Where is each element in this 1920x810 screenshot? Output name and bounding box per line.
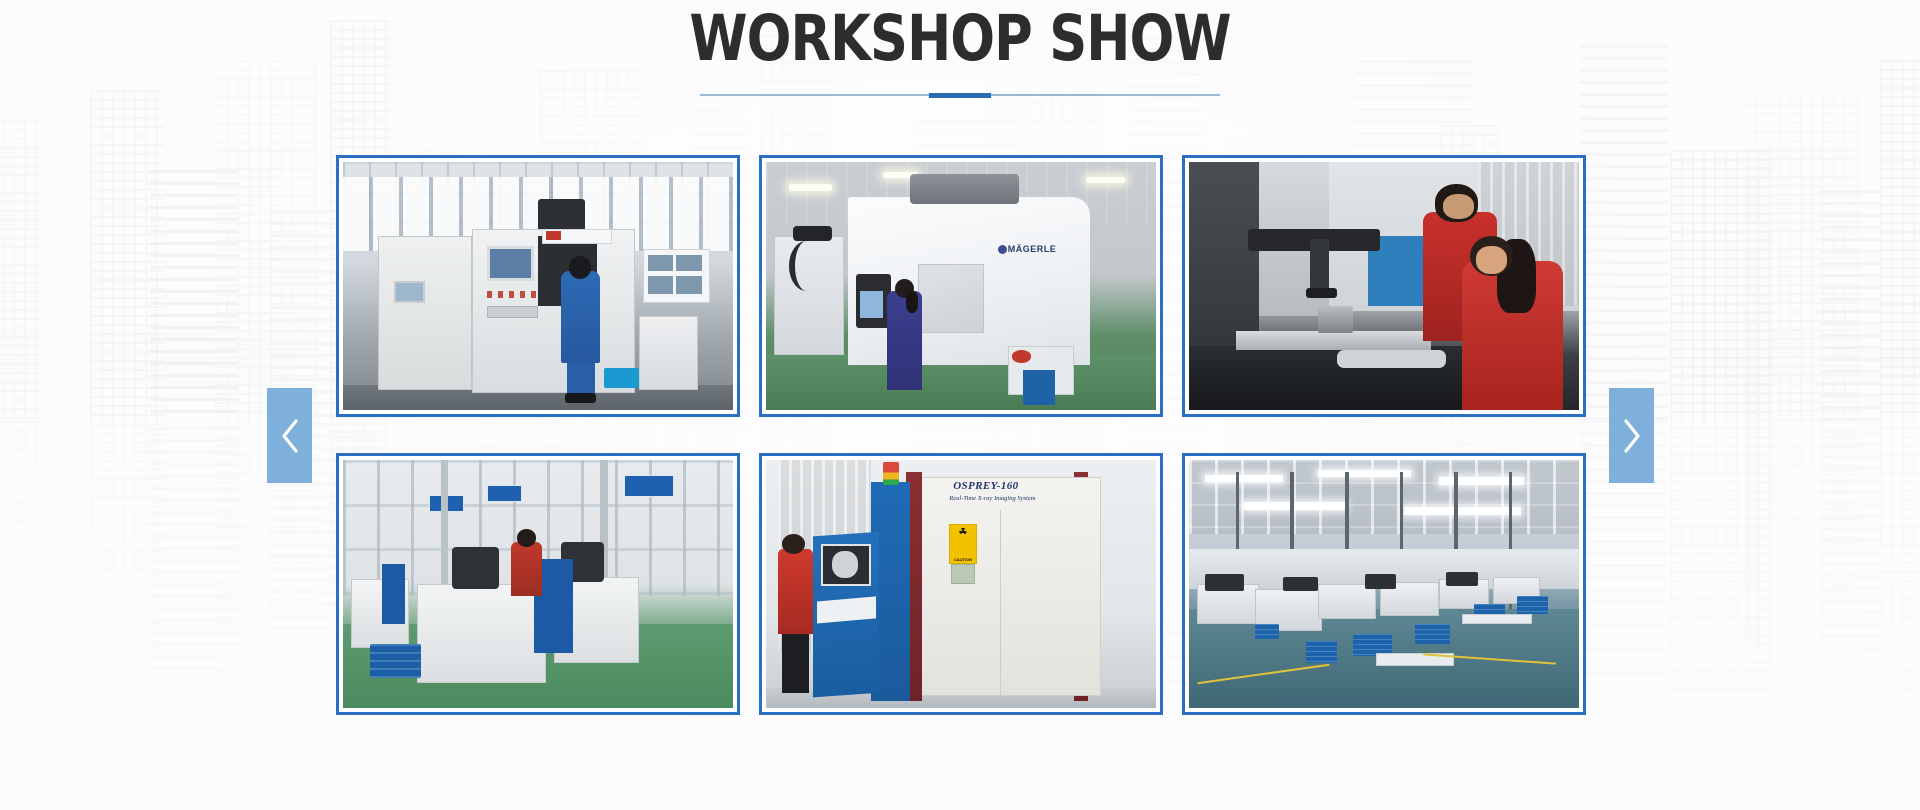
workshop-gallery: MÄGERLE: [336, 155, 1586, 715]
page-title: WORKSHOP SHOW: [689, 4, 1230, 74]
gallery-tile[interactable]: OSPREY-160 Real-Time X-ray Imaging Syste…: [759, 453, 1163, 715]
photo-cmm-inspection[interactable]: [1189, 162, 1579, 410]
gallery-tile[interactable]: MÄGERLE: [759, 155, 1163, 417]
chevron-left-icon: [279, 417, 301, 455]
xray-caution-sign: CAUTION: [949, 524, 976, 564]
xray-caution-text: CAUTION: [950, 557, 975, 562]
carousel-prev-button[interactable]: [267, 388, 312, 483]
photo-cnc-grinding-cell[interactable]: [343, 162, 733, 410]
title-divider: [700, 92, 1220, 98]
gallery-tile[interactable]: [336, 155, 740, 417]
machine-brand-label: MÄGERLE: [1008, 244, 1057, 254]
gallery-tile[interactable]: [1182, 453, 1586, 715]
carousel-next-button[interactable]: [1609, 388, 1654, 483]
photo-magerle-grinder[interactable]: MÄGERLE: [766, 162, 1156, 410]
chevron-right-icon: [1621, 417, 1643, 455]
gallery-tile[interactable]: [1182, 155, 1586, 417]
divider-accent: [929, 93, 991, 98]
machine-model-sublabel: Real-Time X-ray Imaging System: [949, 495, 1035, 502]
photo-machining-line[interactable]: [343, 460, 733, 708]
photo-factory-panorama[interactable]: [1189, 460, 1579, 708]
section-header: WORKSHOP SHOW: [0, 0, 1920, 120]
radiation-icon: [958, 527, 968, 536]
machine-model-label: OSPREY-160: [953, 480, 1018, 492]
photo-xray-osprey[interactable]: OSPREY-160 Real-Time X-ray Imaging Syste…: [766, 460, 1156, 708]
gallery-tile[interactable]: [336, 453, 740, 715]
